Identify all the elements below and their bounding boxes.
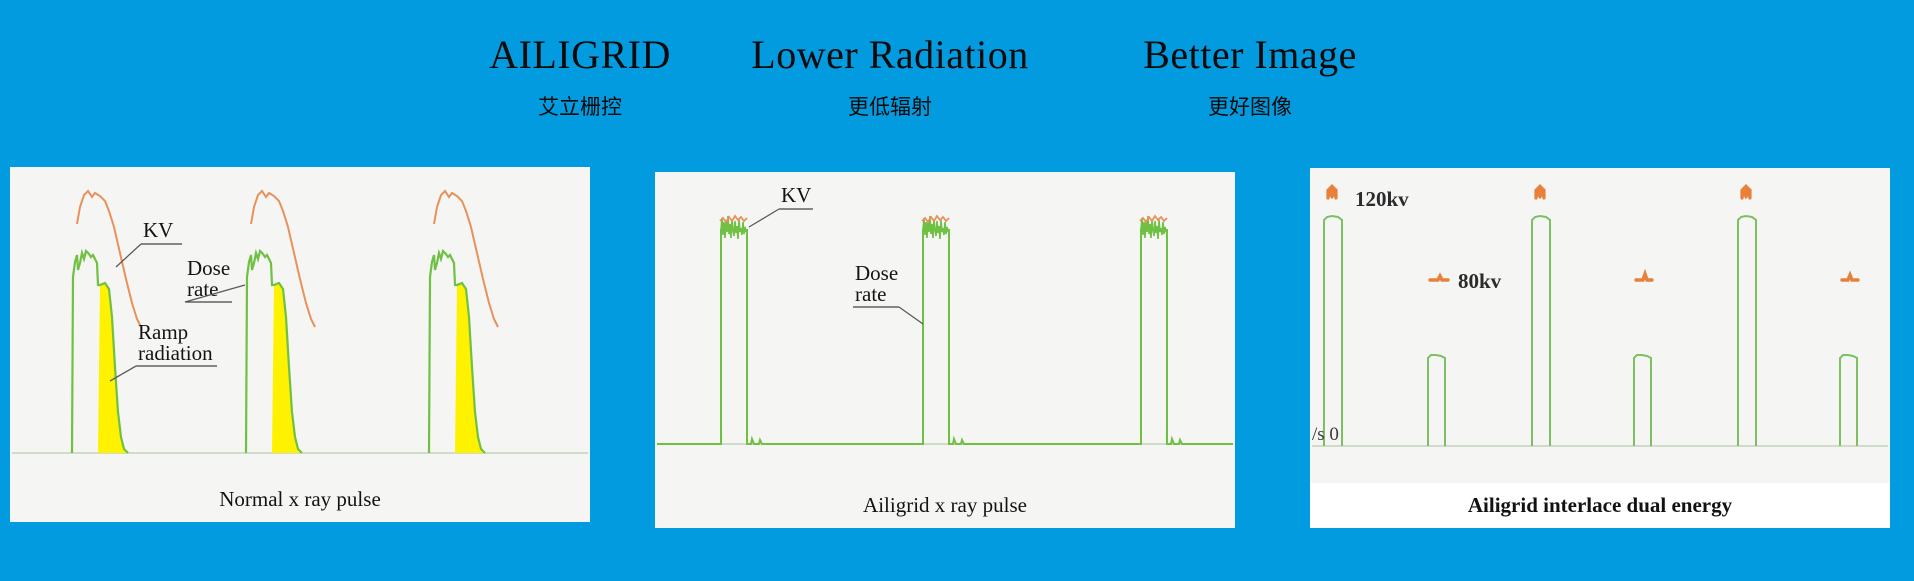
pulse-80kv-3 — [1840, 355, 1857, 446]
kv-cap-line — [1140, 216, 1167, 222]
chart-panel-ailigrid-xray-pulse: KV Dose rate Ailigrid x ray pulse — [655, 172, 1235, 528]
header-group-better-image: Better Image 更好图像 — [1060, 35, 1440, 121]
kv-cap-line — [922, 216, 949, 222]
kv-marker-icon — [1636, 274, 1652, 280]
annotation-kv: KV — [116, 218, 182, 267]
kv-marker-icon — [1328, 186, 1336, 198]
pulse-group-1 — [72, 191, 141, 453]
legend-label-120kv: 120kv — [1355, 187, 1409, 211]
legend-label-80kv: 80kv — [1458, 269, 1502, 293]
caption-bar-dual-energy: Ailigrid interlace dual energy — [1310, 483, 1890, 528]
annotation-kv: KV — [749, 183, 813, 227]
dose-rate-label-2: rate — [855, 282, 886, 306]
chart-panel-dual-energy: 120kv 80kv /s 0 Ailigrid interlace dual … — [1310, 168, 1890, 528]
ramp-radiation-area — [272, 283, 302, 453]
pulse-120kv-1 — [1324, 216, 1342, 446]
dual-energy-svg: 120kv 80kv /s 0 — [1310, 168, 1890, 483]
header-title-en: AILIGRID — [430, 35, 730, 75]
dose-rate-square-pulse — [657, 230, 845, 444]
pulse-120kv-2 — [1532, 216, 1550, 446]
annotation-dose-rate: Dose rate — [185, 256, 245, 302]
chart-plot-dual-energy: 120kv 80kv /s 0 — [1310, 168, 1890, 483]
kv-marker-icon — [1742, 186, 1750, 198]
header-title-cn: 更低辐射 — [700, 91, 1080, 121]
caption-bar-ailigrid: Ailigrid x ray pulse — [655, 482, 1235, 528]
kv-cap-line — [720, 216, 747, 222]
ailigrid-pulse-svg: KV Dose rate — [655, 172, 1235, 482]
kv-marker-icon — [1430, 276, 1448, 280]
pulse-80kv-2 — [1634, 355, 1651, 446]
ramp-radiation-area — [455, 283, 485, 453]
kv-leader-line — [749, 209, 779, 227]
header-group-ailigrid: AILIGRID 艾立栅控 — [430, 35, 730, 121]
pulse-group-80kv — [1428, 355, 1857, 446]
pulse-group-3 — [429, 191, 498, 453]
pulse-80kv-1 — [1428, 355, 1445, 446]
header-banner: AILIGRID 艾立栅控 Lower Radiation 更低辐射 Bette… — [0, 0, 1914, 150]
panel-caption: Ailigrid x ray pulse — [863, 493, 1027, 518]
annotation-dose-rate: Dose rate — [853, 261, 923, 324]
pulse-group-2 — [845, 216, 1115, 444]
header-title-cn: 更好图像 — [1060, 91, 1440, 121]
header-title-en: Better Image — [1060, 35, 1440, 75]
ramp-radiation-label-2: radiation — [138, 341, 213, 365]
pulse-group-120kv — [1324, 216, 1756, 446]
pulse-group-2 — [246, 191, 315, 453]
pulse-group-1 — [657, 216, 845, 444]
kv-label: KV — [781, 183, 811, 207]
chart-panel-normal-xray-pulse: KV Dose rate Ramp radiation Normal x ray… — [10, 167, 590, 522]
chart-plot-normal: KV Dose rate Ramp radiation — [10, 167, 590, 477]
normal-pulse-svg: KV Dose rate Ramp radiation — [10, 167, 590, 477]
annotation-ramp-radiation: Ramp radiation — [110, 320, 217, 381]
pulse-120kv-3 — [1738, 216, 1756, 446]
chart-plot-ailigrid: KV Dose rate — [655, 172, 1235, 482]
ramp-radiation-area — [98, 283, 128, 453]
header-title-cn: 艾立栅控 — [430, 91, 730, 121]
kv-label: KV — [143, 218, 173, 242]
panel-caption: Ailigrid interlace dual energy — [1468, 493, 1732, 518]
pulse-group-3 — [1115, 216, 1233, 444]
caption-bar-normal: Normal x ray pulse — [10, 477, 590, 522]
dose-rate-leader-line — [899, 307, 923, 324]
kv-marker-icon — [1536, 186, 1544, 198]
header-title-en: Lower Radiation — [700, 35, 1080, 75]
dose-rate-square-pulse — [1115, 230, 1233, 444]
axis-origin-label: /s 0 — [1312, 424, 1339, 445]
kv-marker-icon — [1842, 275, 1858, 280]
header-group-lower-radiation: Lower Radiation 更低辐射 — [700, 35, 1080, 121]
panel-caption: Normal x ray pulse — [219, 487, 381, 512]
